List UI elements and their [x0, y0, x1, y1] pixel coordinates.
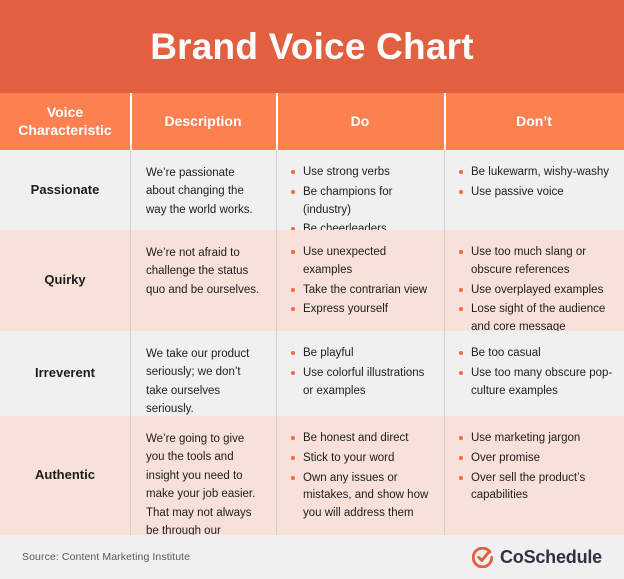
table-row: Authentic We’re going to give you the to… [0, 416, 624, 535]
row-description-text: We’re not afraid to challenge the status… [146, 244, 262, 299]
row-do-list: Use strong verbs Be champions for (indus… [276, 150, 444, 230]
list-item: Use too many obscure pop-culture example… [458, 365, 614, 401]
coschedule-logo: CoSchedule [472, 547, 602, 568]
row-characteristic: Authentic [0, 416, 130, 535]
list-item: Use passive voice [458, 184, 614, 202]
check-circle-icon [472, 547, 493, 568]
row-description: We’re not afraid to challenge the status… [130, 230, 276, 331]
page-title: Brand Voice Chart [150, 28, 473, 65]
column-header-characteristic-label: Voice Characteristic [18, 104, 111, 139]
list-item: Take the contrarian view [290, 282, 434, 300]
row-description: We take our product seriously; we don’t … [130, 331, 276, 416]
column-header-dont-label: Don’t [516, 113, 552, 131]
column-header-description: Description [130, 93, 276, 150]
list-item: Be playful [290, 345, 434, 363]
row-do-list: Be honest and direct Stick to your word … [276, 416, 444, 535]
chart-footer: Source: Content Marketing Institute CoSc… [0, 535, 624, 579]
list-item: Use marketing jargon [458, 430, 614, 448]
brand-voice-chart: Brand Voice Chart Voice Characteristic D… [0, 0, 624, 579]
list-item: Use colorful illustrations or examples [290, 365, 434, 401]
brand-name: CoSchedule [500, 548, 602, 566]
list-item: Use too much slang or obscure references [458, 244, 614, 280]
list-item: Use strong verbs [290, 164, 434, 182]
list-item: Use unexpected examples [290, 244, 434, 280]
table-row: Quirky We’re not afraid to challenge the… [0, 230, 624, 331]
row-dont-list: Use too much slang or obscure references… [444, 230, 624, 331]
column-header-dont: Don’t [444, 93, 624, 150]
column-header-description-label: Description [164, 113, 241, 131]
row-dont-list: Use marketing jargon Over promise Over s… [444, 416, 624, 535]
list-item: Be lukewarm, wishy-washy [458, 164, 614, 182]
row-description-text: We take our product seriously; we don’t … [146, 345, 262, 419]
row-do-list: Use unexpected examples Take the contrar… [276, 230, 444, 331]
row-dont-list: Be lukewarm, wishy-washy Use passive voi… [444, 150, 624, 230]
row-do-list: Be playful Use colorful illustrations or… [276, 331, 444, 416]
list-item: Be too casual [458, 345, 614, 363]
list-item: Use overplayed examples [458, 282, 614, 300]
table-row: Passionate We’re passionate about changi… [0, 150, 624, 230]
row-characteristic: Irreverent [0, 331, 130, 416]
column-header-characteristic: Voice Characteristic [0, 93, 130, 150]
row-characteristic: Passionate [0, 150, 130, 230]
row-description-text: We’re passionate about changing the way … [146, 164, 262, 219]
row-description: We’re passionate about changing the way … [130, 150, 276, 230]
column-header-do-label: Do [351, 113, 370, 131]
list-item: Over sell the product’s capabilities [458, 470, 614, 506]
row-description: We’re going to give you the tools and in… [130, 416, 276, 535]
list-item: Express yourself [290, 301, 434, 319]
row-dont-list: Be too casual Use too many obscure pop-c… [444, 331, 624, 416]
list-item: Over promise [458, 450, 614, 468]
column-header-do: Do [276, 93, 444, 150]
list-item: Own any issues or mistakes, and show how… [290, 470, 434, 523]
chart-title-band: Brand Voice Chart [0, 0, 624, 93]
table-header-row: Voice Characteristic Description Do Don’… [0, 93, 624, 150]
table-body: Passionate We’re passionate about changi… [0, 150, 624, 535]
list-item: Stick to your word [290, 450, 434, 468]
list-item: Be honest and direct [290, 430, 434, 448]
table-row: Irreverent We take our product seriously… [0, 331, 624, 416]
row-characteristic: Quirky [0, 230, 130, 331]
list-item: Be champions for (industry) [290, 184, 434, 220]
source-attribution: Source: Content Marketing Institute [22, 551, 190, 563]
